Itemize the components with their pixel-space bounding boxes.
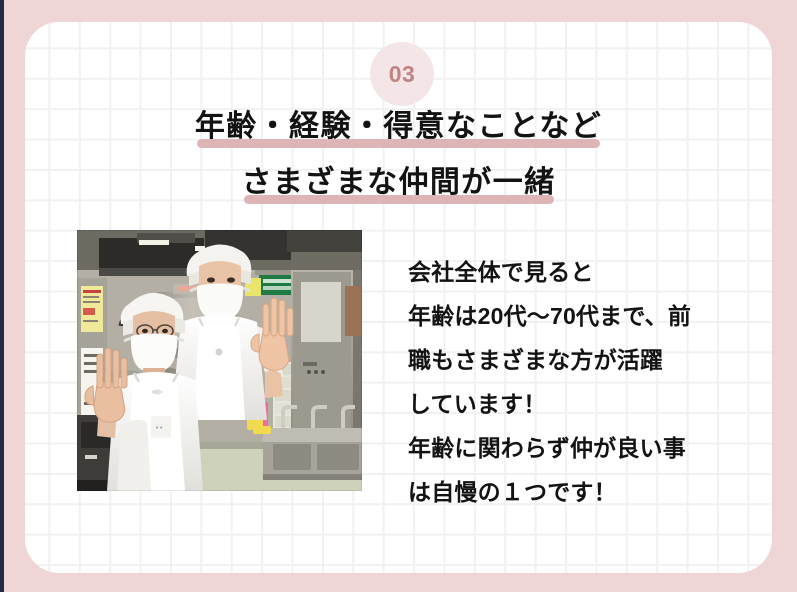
step-number-label: 03 — [389, 63, 416, 86]
heading-line-1: 年齢・経験・得意なことなど — [0, 110, 797, 144]
copy-line: 年齢に関わらず仲が良い事 — [408, 426, 738, 470]
heading-line-2-text: さまざまな仲間が一緒 — [242, 166, 556, 199]
heading-line-1-text: 年齢・経験・得意なことなど — [195, 110, 602, 143]
copy-line: 会社全体で見ると — [408, 250, 738, 294]
heading-line-2-wrap: さまざまな仲間が一緒 — [242, 166, 556, 200]
left-edge-strip — [0, 0, 4, 592]
copy-line: は自慢の１つです！ — [408, 470, 738, 514]
staff-kitchen-photo: •• — [77, 230, 362, 491]
heading-line-1-wrap: 年齢・経験・得意なことなど — [195, 110, 602, 144]
slide-canvas: 03 年齢・経験・得意なことなど さまざまな仲間が一緒 — [0, 0, 797, 592]
body-copy: 会社全体で見ると 年齢は20代〜70代まで、前 職もさまざまな方が活躍 していま… — [408, 250, 738, 514]
photo-illustration: •• — [77, 230, 362, 491]
svg-text:••: •• — [155, 424, 163, 432]
copy-line: 年齢は20代〜70代まで、前 — [408, 294, 738, 338]
copy-line: 職もさまざまな方が活躍 — [408, 338, 738, 382]
step-number-badge: 03 — [370, 42, 434, 106]
heading-line-2: さまざまな仲間が一緒 — [0, 166, 797, 200]
copy-line: しています！ — [408, 382, 738, 426]
